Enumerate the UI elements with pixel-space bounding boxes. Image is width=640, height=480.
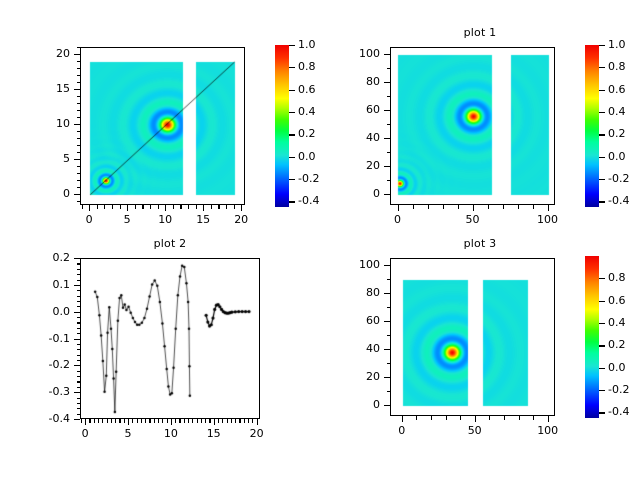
x-minor-tick [211, 205, 212, 209]
y-tick-label: 5 [24, 152, 70, 165]
x-major-tick [128, 419, 129, 425]
y-tick-label: 0.2 [24, 251, 70, 264]
y-major-tick [74, 419, 80, 420]
y-minor-tick [77, 322, 81, 323]
y-tick-label: 0 [24, 187, 70, 200]
x-minor-tick [235, 419, 236, 423]
x-major-tick [171, 419, 172, 425]
x-major-tick [214, 419, 215, 425]
y-major-tick [384, 349, 390, 350]
cbar-tick [599, 201, 605, 202]
y-minor-tick [77, 381, 81, 382]
cbar-tick [599, 345, 605, 346]
y-minor-tick [77, 131, 81, 132]
x-major-tick [85, 419, 86, 425]
y-tick-label: 80 [334, 75, 380, 88]
figure-canvas: 0510152005101520 1.00.80.60.40.20.0-0.2-… [0, 0, 640, 480]
x-minor-tick [489, 416, 490, 420]
x-minor-tick [137, 419, 138, 423]
cbar-tick-label: -0.4 [608, 194, 640, 207]
panel-bottom-left-title: plot 2 [80, 237, 260, 250]
cbar-tick [599, 368, 605, 369]
cbar-tick-label: 1.0 [608, 38, 640, 51]
y-minor-tick [387, 96, 391, 97]
x-minor-tick [188, 205, 189, 209]
y-major-tick [74, 194, 80, 195]
y-minor-tick [77, 333, 81, 334]
y-minor-tick [77, 403, 81, 404]
cbar-tick [599, 45, 605, 46]
y-minor-tick [77, 263, 81, 264]
x-minor-tick [132, 419, 133, 423]
x-minor-tick [222, 419, 223, 423]
y-minor-tick [387, 180, 391, 181]
y-tick-label: 60 [334, 314, 380, 327]
y-tick-label: 80 [334, 286, 380, 299]
x-tick-label: 100 [522, 424, 574, 437]
cbar-tick [599, 278, 605, 279]
y-minor-tick [77, 306, 81, 307]
cbar-tick-label: 0.4 [608, 316, 640, 329]
y-minor-tick [77, 82, 81, 83]
cbar-tick [599, 301, 605, 302]
x-minor-tick [167, 419, 168, 423]
cbar-tick-label: 0.6 [608, 83, 640, 96]
x-minor-tick [115, 419, 116, 423]
x-minor-tick [196, 205, 197, 209]
x-minor-tick [533, 416, 534, 420]
x-major-tick [398, 205, 399, 211]
x-tick-label: 20 [215, 213, 267, 226]
y-tick-label: 100 [334, 47, 380, 60]
y-major-tick [74, 285, 80, 286]
y-minor-tick [77, 166, 81, 167]
y-minor-tick [77, 280, 81, 281]
x-minor-tick [82, 205, 83, 209]
x-minor-tick [154, 419, 155, 423]
y-major-tick [74, 312, 80, 313]
x-minor-tick [227, 419, 228, 423]
y-tick-label: -0.1 [24, 332, 70, 345]
y-tick-label: 0.1 [24, 278, 70, 291]
y-minor-tick [77, 301, 81, 302]
x-minor-tick [443, 205, 444, 209]
x-minor-tick [413, 205, 414, 209]
x-minor-tick [231, 419, 232, 423]
x-minor-tick [218, 419, 219, 423]
x-tick-label: 100 [522, 213, 574, 226]
x-minor-tick [209, 419, 210, 423]
x-tick-label: 50 [449, 424, 501, 437]
x-major-tick [475, 416, 476, 422]
cbar-tick [289, 45, 295, 46]
heatmap-image-top-right [391, 48, 555, 205]
x-minor-tick [119, 419, 120, 423]
x-minor-tick [218, 205, 219, 209]
heatmap-image-bottom-right [391, 259, 555, 416]
y-tick-label: 15 [24, 82, 70, 95]
y-major-tick [384, 194, 390, 195]
y-minor-tick [387, 363, 391, 364]
cbar-tick-label: -0.4 [608, 405, 640, 418]
cbar-tick-label: -0.2 [608, 172, 640, 185]
x-minor-tick [97, 205, 98, 209]
x-major-tick [241, 205, 242, 211]
cbar-tick [599, 390, 605, 391]
x-minor-tick [98, 419, 99, 423]
cbar-tick-label: -0.2 [298, 172, 338, 185]
y-minor-tick [77, 138, 81, 139]
x-minor-tick [124, 419, 125, 423]
line-series-bottom-left [81, 259, 260, 419]
plot-area-bottom-left [80, 258, 260, 419]
cbar-tick-label: 0.0 [298, 150, 338, 163]
y-major-tick [74, 54, 80, 55]
x-major-tick [257, 419, 258, 425]
cbar-tick [599, 323, 605, 324]
y-minor-tick [77, 103, 81, 104]
y-major-tick [74, 89, 80, 90]
cbar-tick [599, 179, 605, 180]
y-minor-tick [77, 180, 81, 181]
y-tick-label: -0.3 [24, 385, 70, 398]
plot-area-bottom-right [390, 258, 555, 416]
y-major-tick [74, 124, 80, 125]
y-tick-label: 20 [24, 47, 70, 60]
x-minor-tick [248, 419, 249, 423]
cbar-tick-label: 0.0 [608, 150, 640, 163]
y-minor-tick [387, 68, 391, 69]
x-minor-tick [234, 205, 235, 209]
cbar-tick-label: -0.2 [608, 383, 640, 396]
cbar-tick-label: 1.0 [298, 38, 338, 51]
x-minor-tick [104, 205, 105, 209]
panel-bottom-right-title: plot 3 [390, 237, 570, 250]
x-minor-tick [145, 419, 146, 423]
y-minor-tick [77, 317, 81, 318]
y-tick-label: 0 [334, 187, 380, 200]
cbar-tick [599, 412, 605, 413]
x-minor-tick [192, 419, 193, 423]
y-major-tick [74, 159, 80, 160]
y-minor-tick [77, 152, 81, 153]
y-minor-tick [77, 187, 81, 188]
y-major-tick [384, 377, 390, 378]
y-tick-label: 20 [334, 159, 380, 172]
y-major-tick [384, 321, 390, 322]
x-minor-tick [149, 419, 150, 423]
x-minor-tick [184, 419, 185, 423]
cbar-tick-label: 0.8 [298, 60, 338, 73]
y-minor-tick [77, 398, 81, 399]
x-minor-tick [503, 205, 504, 209]
cbar-tick-label: 0.4 [608, 105, 640, 118]
cbar-tick-label: 0.0 [608, 361, 640, 374]
cbar-tick-label: 0.6 [298, 83, 338, 96]
x-major-tick [203, 205, 204, 211]
x-major-tick [402, 416, 403, 422]
y-tick-label: 40 [334, 131, 380, 144]
y-major-tick [74, 258, 80, 259]
x-minor-tick [188, 419, 189, 423]
x-minor-tick [488, 205, 489, 209]
y-tick-label: 0 [334, 398, 380, 411]
cbar-tick [289, 112, 295, 113]
y-tick-label: 60 [334, 103, 380, 116]
x-minor-tick [460, 416, 461, 420]
y-minor-tick [387, 335, 391, 336]
y-tick-label: -0.2 [24, 358, 70, 371]
y-minor-tick [387, 307, 391, 308]
y-tick-label: 100 [334, 258, 380, 271]
x-minor-tick [141, 419, 142, 423]
x-minor-tick [102, 419, 103, 423]
y-minor-tick [77, 296, 81, 297]
x-major-tick [473, 205, 474, 211]
cbar-tick-label: 0.8 [608, 60, 640, 73]
cbar-tick [599, 67, 605, 68]
x-minor-tick [158, 205, 159, 209]
y-major-tick [384, 110, 390, 111]
x-minor-tick [226, 205, 227, 209]
x-minor-tick [179, 419, 180, 423]
x-minor-tick [518, 205, 519, 209]
cbar-tick [289, 67, 295, 68]
y-minor-tick [77, 328, 81, 329]
heatmap-image-top-left [81, 48, 245, 205]
cbar-tick-label: 0.2 [608, 338, 640, 351]
y-minor-tick [77, 290, 81, 291]
y-minor-tick [387, 279, 391, 280]
y-major-tick [384, 138, 390, 139]
cbar-tick-label: 0.6 [608, 294, 640, 307]
y-minor-tick [77, 408, 81, 409]
cbar-tick [289, 157, 295, 158]
x-major-tick [89, 205, 90, 211]
cbar-tick [599, 90, 605, 91]
y-minor-tick [387, 124, 391, 125]
x-minor-tick [197, 419, 198, 423]
y-minor-tick [387, 152, 391, 153]
cbar-tick-label: 0.2 [608, 127, 640, 140]
y-major-tick [384, 405, 390, 406]
y-minor-tick [77, 110, 81, 111]
x-minor-tick [120, 205, 121, 209]
y-minor-tick [77, 360, 81, 361]
y-minor-tick [77, 68, 81, 69]
y-minor-tick [77, 355, 81, 356]
y-minor-tick [77, 173, 81, 174]
y-major-tick [384, 54, 390, 55]
y-minor-tick [77, 145, 81, 146]
x-tick-label: 0 [372, 213, 424, 226]
y-minor-tick [77, 349, 81, 350]
x-minor-tick [173, 205, 174, 209]
x-minor-tick [244, 419, 245, 423]
colorbar-top-left [275, 45, 289, 207]
x-minor-tick [158, 419, 159, 423]
y-minor-tick [77, 414, 81, 415]
y-major-tick [74, 392, 80, 393]
x-minor-tick [533, 205, 534, 209]
x-minor-tick [135, 205, 136, 209]
x-minor-tick [111, 419, 112, 423]
x-minor-tick [504, 416, 505, 420]
x-minor-tick [519, 416, 520, 420]
y-tick-label: 10 [24, 117, 70, 130]
x-minor-tick [142, 205, 143, 209]
x-minor-tick [180, 205, 181, 209]
x-major-tick [548, 416, 549, 422]
x-tick-label: 0 [376, 424, 428, 437]
cbar-tick [289, 90, 295, 91]
cbar-tick [289, 201, 295, 202]
x-minor-tick [205, 419, 206, 423]
plot-area-top-right [390, 47, 555, 205]
y-major-tick [384, 82, 390, 83]
y-minor-tick [77, 387, 81, 388]
y-minor-tick [77, 201, 81, 202]
cbar-tick-label: 0.2 [298, 127, 338, 140]
cbar-tick-label: -0.4 [298, 194, 338, 207]
y-minor-tick [77, 269, 81, 270]
y-major-tick [74, 365, 80, 366]
y-minor-tick [77, 96, 81, 97]
x-minor-tick [416, 416, 417, 420]
y-minor-tick [77, 61, 81, 62]
x-minor-tick [446, 416, 447, 420]
cbar-tick-label: 0.4 [298, 105, 338, 118]
y-minor-tick [77, 344, 81, 345]
x-tick-label: 20 [231, 427, 283, 440]
cbar-tick [599, 157, 605, 158]
y-minor-tick [387, 391, 391, 392]
x-minor-tick [458, 205, 459, 209]
y-major-tick [384, 166, 390, 167]
x-minor-tick [112, 205, 113, 209]
x-minor-tick [239, 419, 240, 423]
x-minor-tick [81, 419, 82, 423]
cbar-tick [599, 134, 605, 135]
x-minor-tick [175, 419, 176, 423]
x-minor-tick [431, 416, 432, 420]
y-minor-tick [77, 371, 81, 372]
y-minor-tick [77, 274, 81, 275]
colorbar-top-right [585, 45, 599, 207]
x-major-tick [165, 205, 166, 211]
y-minor-tick [77, 376, 81, 377]
y-minor-tick [77, 117, 81, 118]
y-tick-label: 20 [334, 370, 380, 383]
x-major-tick [127, 205, 128, 211]
panel-top-right-title: plot 1 [390, 26, 570, 39]
x-minor-tick [252, 419, 253, 423]
cbar-tick-label: 0.8 [608, 271, 640, 284]
x-minor-tick [94, 419, 95, 423]
x-minor-tick [201, 419, 202, 423]
cbar-tick [289, 179, 295, 180]
cbar-tick [599, 112, 605, 113]
x-tick-label: 50 [447, 213, 499, 226]
colorbar-bottom-right [585, 256, 599, 418]
x-minor-tick [89, 419, 90, 423]
y-major-tick [74, 339, 80, 340]
y-major-tick [384, 293, 390, 294]
plot-area-top-left [80, 47, 245, 205]
x-minor-tick [162, 419, 163, 423]
cbar-tick [289, 134, 295, 135]
x-minor-tick [107, 419, 108, 423]
y-major-tick [384, 265, 390, 266]
y-minor-tick [77, 75, 81, 76]
y-tick-label: -0.4 [24, 412, 70, 425]
x-minor-tick [428, 205, 429, 209]
x-major-tick [548, 205, 549, 211]
y-tick-label: 0.0 [24, 305, 70, 318]
y-tick-label: 40 [334, 342, 380, 355]
x-minor-tick [150, 205, 151, 209]
y-minor-tick [77, 47, 81, 48]
